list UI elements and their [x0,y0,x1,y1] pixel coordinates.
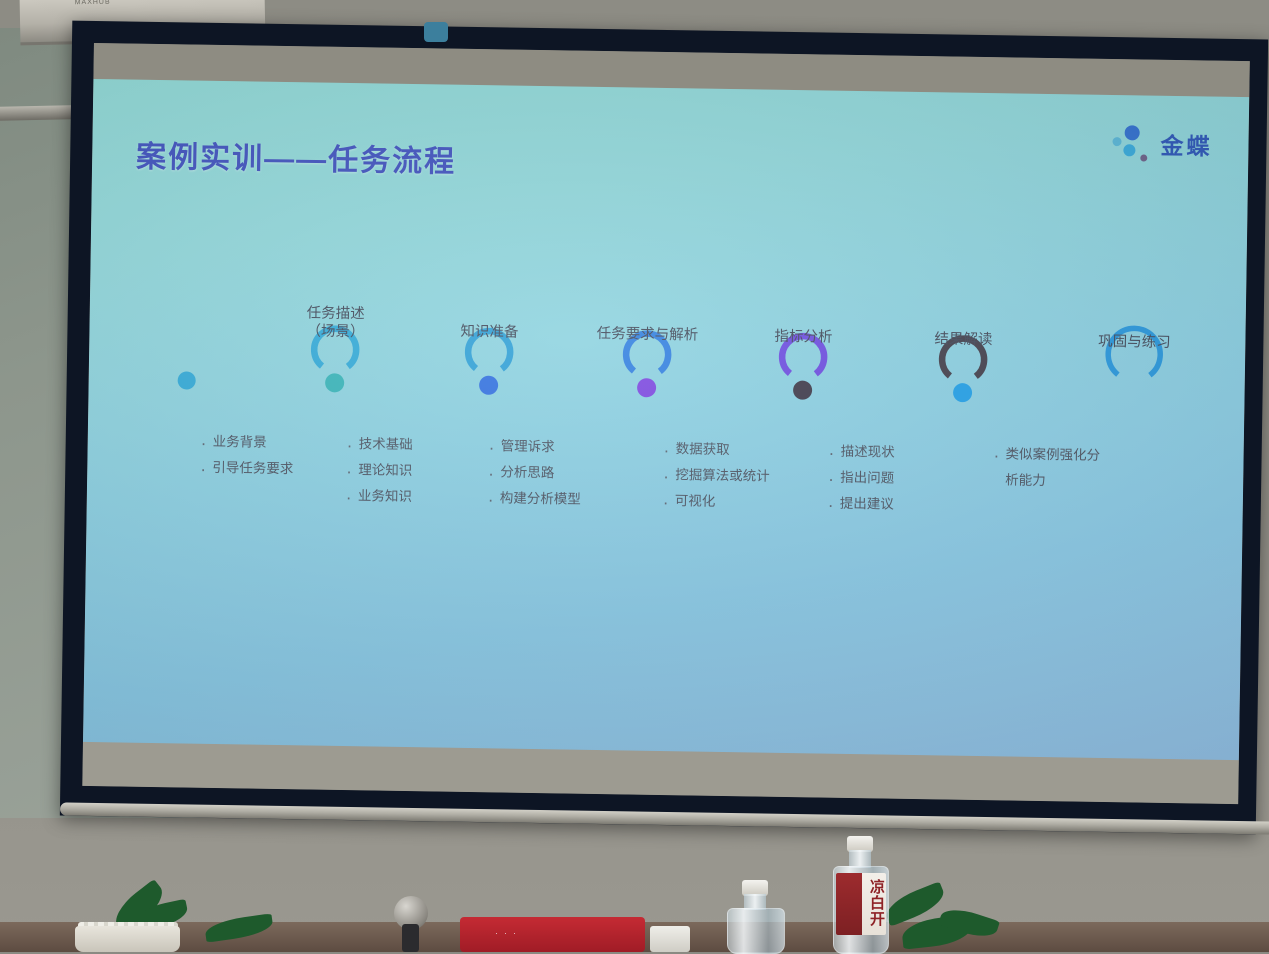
timeline-node-label-line1: 巩固与练习 [1098,333,1171,352]
bottle-label-photo [836,873,862,935]
timeline-node-dot [479,376,498,395]
timeline-node-dot [793,381,812,400]
microphone-body [402,924,419,952]
list-item: 提出建议 [827,490,894,517]
list-item: 分析思路 [487,459,581,486]
timeline-node-label-line1: 结果解读 [934,330,992,349]
bottle-label-text: 凉白开 [866,879,886,927]
list-item: 理论知识 [345,457,412,484]
bottle-label: 凉白开 [836,873,886,935]
timeline-graphic [83,79,1249,760]
list-item: 指出问题 [827,464,894,491]
slide-canvas: 案例实训——任务流程 金蝶 [83,79,1249,760]
timeline-node-bullets: 描述现状指出问题提出建议 [827,439,895,518]
list-item: 构建分析模型 [487,485,581,512]
list-item: 引导任务要求 [199,455,293,482]
list-item: 析能力 [992,467,1100,495]
list-item: 业务知识 [345,483,412,510]
list-item: 数据获取 [662,436,770,464]
timeline-node-label: 任务要求与解析 [597,325,699,345]
timeline-node-label: 知识准备 [460,323,518,342]
timeline-node-dot [325,373,344,392]
timeline-node-label: 巩固与练习 [1098,333,1171,352]
bottle-body [727,908,785,954]
list-item: 业务背景 [200,429,294,456]
list-item: 类似案例强化分 [992,441,1100,469]
list-item: 描述现状 [827,439,894,466]
microphone[interactable] [390,896,430,952]
plant-leaves-right [880,866,1010,946]
red-folder[interactable] [460,917,645,952]
list-item: 挖掘算法或统计 [662,462,770,490]
timeline-node-bullets: 数据获取挖掘算法或统计可视化 [662,436,771,515]
paper-cup[interactable] [650,926,690,952]
timeline-node-bullets: 业务背景引导任务要求 [199,429,294,482]
timeline-node-label-line1: 任务描述 [307,304,365,323]
plant-leaves-left [100,860,220,930]
projection-screen: 案例实训——任务流程 金蝶 [60,21,1268,835]
classroom-scene: MAXHUB 案例实训——任务流程 金蝶 [0,0,1269,952]
timeline-node-label-line1: 任务要求与解析 [597,325,699,345]
timeline-node-bullets: 类似案例强化分析能力 [992,441,1100,494]
plant-leaves-mid [205,898,315,938]
water-bottle-labeled[interactable]: 凉白开 [833,836,887,952]
screen-surface: 案例实训——任务流程 金蝶 [82,43,1250,804]
water-bottle-clear[interactable] [727,880,783,952]
list-item: 管理诉求 [487,433,581,460]
timeline-node-dot [637,378,656,397]
folder-emboss: ··· [495,928,522,938]
timeline-node-bullets: 管理诉求分析思路构建分析模型 [487,433,582,512]
timeline-node-label-line1: 知识准备 [460,323,518,342]
projector-brand-label: MAXHUB [75,0,111,6]
list-item: 可视化 [662,488,770,516]
timeline-node-label: 任务描述（场景） [306,304,365,341]
timeline-node-label-line1: 指标分析 [774,328,832,347]
timeline-node-dot [953,383,972,402]
white-tray [75,926,180,952]
timeline-node-label-line2: （场景） [306,322,364,341]
timeline-node-bullets: 技术基础理论知识业务知识 [345,431,413,510]
bottle-body: 凉白开 [833,866,889,954]
timeline-node-label: 结果解读 [934,330,992,349]
task-flow-timeline: 任务描述（场景）知识准备任务要求与解析指标分析结果解读巩固与练习 业务背景引导任… [83,79,1249,760]
timeline-node-label: 指标分析 [774,328,832,347]
list-item: 技术基础 [345,431,412,458]
microphone-base [424,22,448,42]
